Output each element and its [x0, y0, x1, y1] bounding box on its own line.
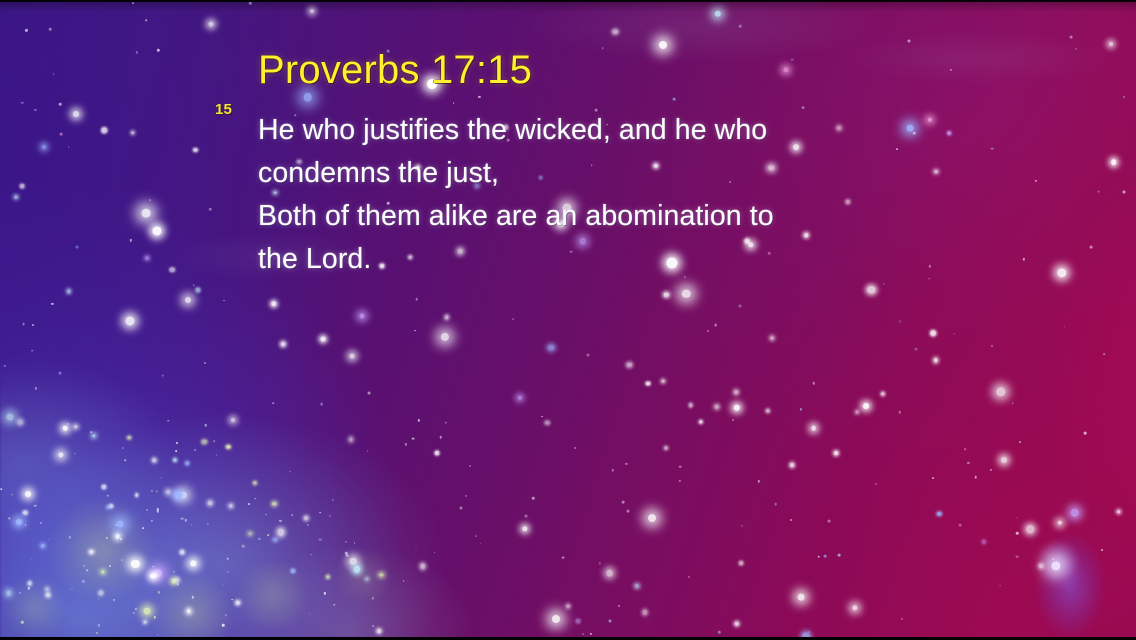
star — [465, 495, 467, 497]
star — [90, 550, 93, 553]
star — [982, 540, 985, 543]
star — [732, 419, 734, 421]
star — [19, 592, 21, 594]
star — [469, 465, 471, 467]
star — [766, 409, 769, 412]
star — [131, 560, 139, 568]
star — [6, 414, 13, 421]
star — [254, 498, 256, 500]
star — [120, 538, 122, 540]
star — [20, 185, 24, 189]
star — [206, 523, 208, 525]
star — [1035, 180, 1037, 182]
star — [58, 452, 63, 457]
star — [1016, 517, 1017, 518]
star — [643, 610, 647, 614]
star — [1058, 521, 1062, 525]
star — [574, 447, 576, 449]
star — [974, 476, 977, 479]
star — [107, 506, 110, 509]
star — [733, 405, 739, 411]
star — [161, 374, 164, 377]
star — [92, 434, 95, 437]
star — [524, 515, 527, 518]
star — [734, 621, 738, 625]
star — [881, 392, 884, 395]
verse-body: 15 He who justifies the wicked, and he w… — [258, 109, 958, 281]
star — [546, 421, 549, 424]
star — [441, 333, 449, 341]
star — [113, 599, 115, 601]
star — [646, 382, 650, 386]
star — [156, 510, 158, 512]
star — [739, 25, 742, 28]
star — [365, 577, 368, 580]
star — [548, 345, 554, 351]
star — [160, 477, 161, 478]
star — [582, 633, 584, 635]
star — [28, 587, 30, 589]
star — [834, 452, 838, 456]
star — [143, 607, 150, 614]
star — [359, 314, 364, 319]
star — [800, 408, 802, 410]
star — [192, 596, 194, 598]
star — [1064, 326, 1066, 328]
star — [954, 333, 955, 334]
star — [307, 523, 309, 525]
star — [345, 541, 347, 543]
star — [739, 561, 743, 565]
star — [414, 330, 416, 332]
star — [76, 246, 79, 249]
star — [612, 469, 614, 471]
star — [417, 419, 419, 421]
star — [996, 387, 1005, 396]
scripture-text-block: Proverbs 17:15 15 He who justifies the w… — [258, 48, 958, 281]
star — [191, 524, 192, 525]
star — [22, 323, 25, 326]
star — [216, 454, 218, 456]
star — [1101, 550, 1103, 552]
star — [15, 195, 18, 198]
star — [512, 318, 514, 320]
star — [74, 453, 76, 455]
star — [115, 534, 120, 539]
star — [967, 462, 969, 464]
star — [334, 604, 335, 605]
star — [191, 561, 196, 566]
star — [53, 73, 55, 75]
star — [991, 147, 994, 150]
star — [99, 591, 103, 595]
star — [310, 554, 312, 556]
star — [901, 617, 903, 619]
star — [771, 336, 774, 339]
star — [41, 544, 44, 547]
star — [291, 569, 295, 573]
star — [125, 316, 134, 325]
star — [875, 483, 877, 485]
star — [577, 619, 581, 623]
star — [321, 337, 326, 342]
star — [235, 600, 239, 604]
star — [115, 524, 117, 526]
star — [67, 423, 69, 425]
star — [319, 512, 321, 514]
star — [372, 597, 374, 599]
star — [146, 509, 148, 511]
star — [522, 526, 527, 531]
star — [59, 103, 62, 106]
star — [157, 49, 159, 51]
star — [248, 503, 250, 505]
star — [856, 411, 859, 414]
star — [9, 518, 10, 519]
star — [121, 559, 123, 561]
star — [142, 527, 144, 529]
star — [811, 426, 816, 431]
star — [990, 469, 992, 471]
star — [168, 420, 169, 421]
star — [356, 566, 359, 569]
star — [1117, 510, 1121, 514]
star — [1023, 258, 1025, 260]
star — [28, 582, 31, 585]
star — [689, 404, 693, 408]
star — [475, 535, 477, 537]
star — [16, 519, 22, 525]
star — [180, 491, 187, 498]
star — [135, 494, 138, 497]
star — [310, 9, 314, 13]
star — [35, 387, 37, 389]
star — [223, 584, 224, 585]
star — [46, 588, 49, 591]
star — [32, 324, 34, 326]
star — [196, 288, 200, 292]
star — [49, 28, 52, 31]
star — [367, 450, 369, 452]
star — [403, 581, 405, 583]
star — [102, 485, 106, 489]
star — [176, 583, 179, 586]
star — [21, 102, 24, 105]
star — [964, 449, 966, 451]
star — [40, 522, 42, 524]
star — [242, 545, 245, 548]
letterbox-bar-top — [0, 0, 1136, 2]
star — [587, 353, 590, 356]
star — [132, 612, 134, 614]
star — [561, 556, 564, 559]
star — [98, 598, 99, 599]
star — [354, 566, 360, 572]
star — [345, 552, 347, 554]
star — [24, 511, 28, 515]
star — [231, 418, 235, 422]
star — [117, 521, 124, 528]
star — [405, 443, 407, 445]
star — [249, 2, 251, 4]
star — [151, 520, 153, 522]
star — [109, 565, 111, 567]
star — [154, 569, 162, 577]
star — [181, 517, 184, 520]
star — [122, 446, 124, 448]
star — [145, 20, 147, 22]
star — [678, 480, 680, 482]
star — [25, 524, 27, 526]
star — [326, 576, 329, 579]
star — [143, 621, 146, 624]
star — [135, 608, 137, 610]
star — [106, 495, 109, 498]
star — [227, 445, 230, 448]
star — [267, 535, 269, 537]
star — [332, 498, 334, 500]
star — [151, 490, 153, 492]
star — [1057, 268, 1066, 277]
star — [380, 573, 383, 576]
star — [758, 480, 760, 482]
star — [931, 331, 936, 336]
star — [136, 51, 138, 53]
star — [324, 592, 326, 594]
star — [480, 543, 482, 545]
star — [999, 585, 1001, 587]
star — [58, 371, 61, 374]
star — [60, 132, 63, 135]
star — [193, 285, 195, 287]
star — [102, 571, 105, 574]
star — [151, 573, 156, 578]
star — [272, 402, 274, 404]
star — [6, 591, 11, 596]
star — [649, 514, 657, 522]
star — [934, 359, 937, 362]
star — [187, 610, 190, 613]
star — [213, 440, 215, 442]
star — [899, 411, 901, 413]
star — [1019, 441, 1021, 443]
star — [157, 508, 159, 510]
star — [622, 501, 625, 504]
star — [309, 613, 310, 614]
star — [68, 147, 70, 149]
star — [852, 605, 857, 610]
star — [69, 536, 71, 538]
verse-number-superscript: 15 — [215, 102, 232, 117]
verse-line: condemns the just, — [258, 152, 958, 195]
star — [1051, 561, 1060, 570]
star — [127, 436, 130, 439]
star — [618, 604, 620, 606]
star — [1090, 246, 1093, 249]
star — [229, 505, 232, 508]
star — [739, 304, 742, 307]
star — [665, 446, 668, 449]
star — [434, 552, 436, 554]
star — [102, 128, 106, 132]
star — [812, 382, 815, 385]
star — [227, 558, 230, 561]
star — [209, 208, 212, 211]
star — [883, 283, 885, 285]
star — [664, 293, 668, 297]
star — [289, 471, 291, 473]
star — [106, 537, 108, 539]
star — [194, 449, 196, 451]
star — [627, 510, 630, 513]
star — [350, 438, 353, 441]
star — [718, 631, 721, 634]
star — [149, 199, 151, 201]
star — [625, 463, 627, 465]
star — [97, 624, 99, 626]
star — [254, 481, 257, 484]
star — [174, 492, 181, 499]
star — [124, 459, 126, 461]
star — [32, 560, 33, 561]
star — [34, 504, 37, 507]
star — [377, 629, 381, 633]
star — [1123, 96, 1125, 98]
star — [225, 615, 226, 616]
star — [152, 227, 161, 236]
star — [48, 539, 50, 541]
star — [908, 40, 911, 43]
star — [1071, 509, 1079, 517]
star — [209, 21, 214, 26]
star — [439, 436, 442, 439]
star — [838, 554, 841, 557]
star — [350, 354, 355, 359]
star — [635, 584, 639, 588]
verse-line: the Lord. — [258, 238, 958, 281]
star — [12, 494, 14, 496]
star — [627, 363, 631, 367]
star — [1103, 353, 1105, 355]
star — [421, 564, 425, 568]
star — [354, 542, 356, 544]
star — [699, 420, 702, 423]
star — [688, 576, 690, 578]
star — [176, 442, 178, 444]
star — [130, 239, 132, 241]
star — [271, 301, 276, 306]
star — [51, 303, 53, 305]
star — [1075, 47, 1077, 49]
star — [320, 403, 323, 406]
star — [790, 519, 792, 521]
star — [279, 519, 281, 521]
star — [42, 145, 46, 149]
star — [291, 514, 293, 516]
star — [435, 451, 439, 455]
star — [208, 501, 212, 505]
star — [304, 516, 308, 520]
verse-line: Both of them alike are an abomination to — [258, 195, 958, 238]
star — [157, 633, 160, 636]
star — [194, 149, 197, 152]
star — [32, 350, 34, 352]
star — [541, 416, 543, 418]
scripture-slide: Proverbs 17:15 15 He who justifies the w… — [0, 0, 1136, 640]
star — [824, 555, 827, 558]
star — [1053, 559, 1055, 561]
star — [1012, 403, 1014, 405]
star — [71, 588, 73, 590]
star — [18, 420, 23, 425]
star — [265, 514, 267, 516]
star — [1109, 42, 1113, 46]
verse-line: He who justifies the wicked, and he who — [258, 109, 958, 152]
star — [350, 558, 357, 565]
star — [87, 570, 88, 571]
star — [186, 462, 189, 465]
star — [734, 390, 738, 394]
star — [281, 342, 285, 346]
star — [272, 502, 275, 505]
star — [204, 362, 206, 364]
star — [204, 424, 207, 427]
star — [346, 554, 349, 557]
star — [790, 463, 794, 467]
star — [4, 365, 6, 367]
star — [613, 30, 617, 34]
star — [459, 506, 462, 509]
star — [73, 111, 79, 117]
star — [21, 621, 24, 624]
star — [170, 267, 175, 272]
star — [1111, 159, 1117, 165]
star — [74, 425, 78, 429]
star — [1001, 457, 1007, 463]
star — [175, 578, 179, 582]
star — [90, 432, 92, 434]
star — [110, 505, 113, 508]
star — [682, 290, 691, 299]
star — [132, 2, 134, 4]
star — [249, 532, 252, 535]
star — [1070, 36, 1073, 39]
star — [1122, 190, 1125, 193]
star — [258, 538, 260, 540]
star — [154, 616, 156, 618]
star — [589, 632, 591, 634]
star — [1097, 190, 1100, 193]
star — [991, 345, 993, 347]
star — [1039, 564, 1043, 568]
star — [532, 497, 534, 499]
star — [202, 439, 206, 443]
star — [46, 593, 50, 597]
star — [184, 519, 186, 521]
star — [412, 437, 415, 440]
star — [153, 566, 154, 567]
star — [67, 290, 70, 293]
star — [445, 422, 447, 424]
star — [372, 625, 374, 627]
star — [84, 566, 85, 567]
star — [25, 492, 31, 498]
star — [1015, 555, 1018, 558]
star — [959, 524, 962, 527]
star — [863, 403, 869, 409]
star — [415, 298, 418, 301]
star — [175, 450, 177, 452]
